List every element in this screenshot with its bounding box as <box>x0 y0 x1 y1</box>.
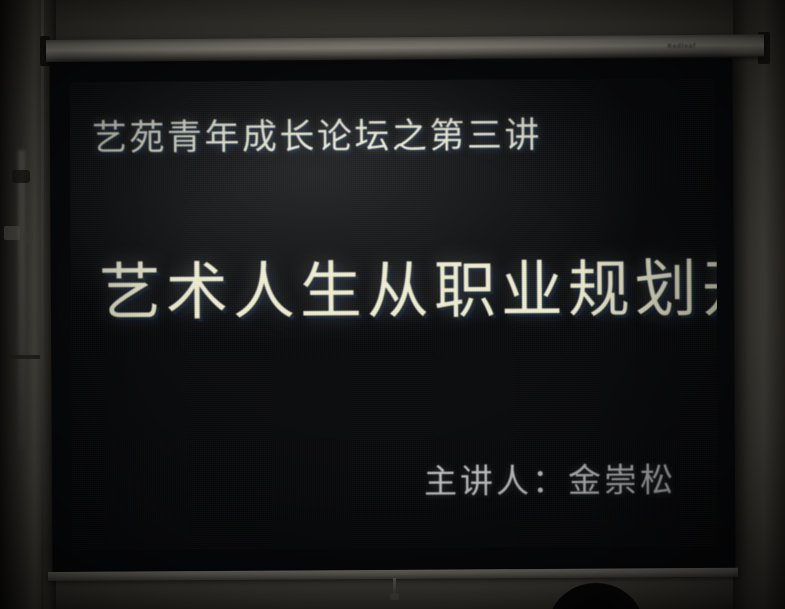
wall-fixture-knob <box>22 232 33 243</box>
wall-bracket-lower <box>10 355 40 359</box>
photo-scene: Redleaf 艺苑青年成长论坛之第三讲 艺术人生从职业规划开始 主讲人：金崇松 <box>0 0 785 609</box>
roller-brand-label: Redleaf <box>667 43 696 50</box>
slide-presenter-line: 主讲人：金崇松 <box>424 462 676 500</box>
wall-left-column <box>0 0 56 609</box>
wall-left-column-edge <box>41 0 44 609</box>
projected-slide-surface: 艺苑青年成长论坛之第三讲 艺术人生从职业规划开始 主讲人：金崇松 <box>70 78 719 550</box>
wall-fixture <box>4 226 20 240</box>
wall-right-column <box>733 0 785 609</box>
slide-content: 艺苑青年成长论坛之第三讲 艺术人生从职业规划开始 主讲人：金崇松 <box>70 78 719 550</box>
slide-subtitle: 艺苑青年成长论坛之第三讲 <box>92 117 542 159</box>
wall-left-highlight <box>18 150 25 450</box>
hook-knob <box>390 593 399 600</box>
slide-title: 艺术人生从职业规划开始 <box>99 255 719 325</box>
projector-screen-frame: 艺苑青年成长论坛之第三讲 艺术人生从职业规划开始 主讲人：金崇松 <box>49 58 735 572</box>
wall-bracket-upper <box>12 170 30 183</box>
